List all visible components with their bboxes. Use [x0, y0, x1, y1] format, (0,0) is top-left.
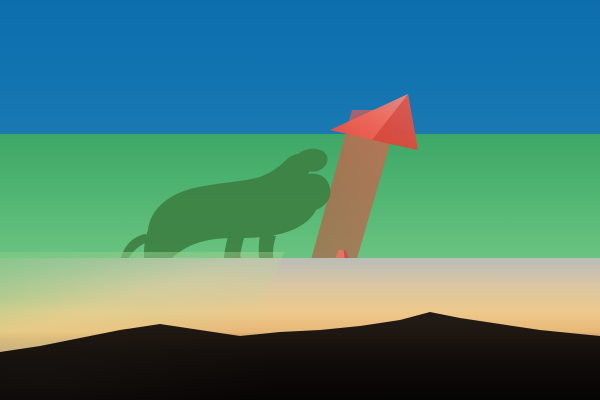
- banner-image: [0, 0, 600, 400]
- candlestick-chart-bottom: [0, 0, 600, 400]
